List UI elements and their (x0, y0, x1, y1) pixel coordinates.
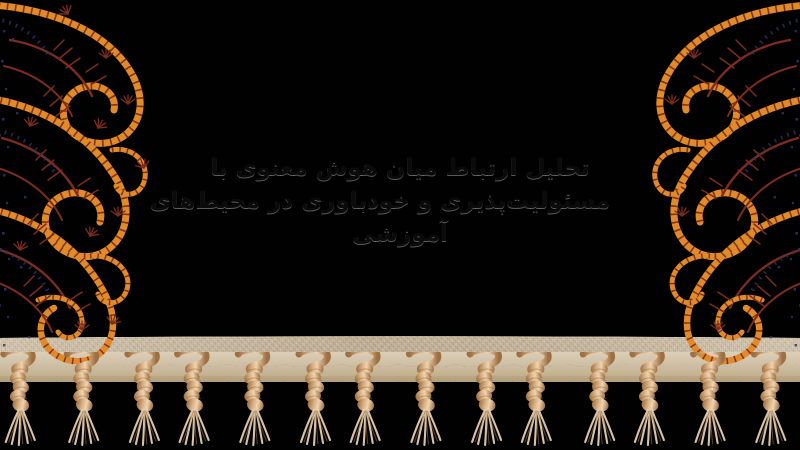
tassel (687, 352, 731, 448)
tassel-fringe (0, 352, 800, 450)
tassel (0, 352, 43, 448)
tassel (343, 352, 387, 448)
title-line-1: تحلیل ارتباط میان هوش معنوی با (190, 152, 610, 185)
tassel (748, 352, 792, 448)
tassel (232, 352, 276, 448)
tassel (404, 352, 448, 448)
tassel (465, 352, 509, 448)
tassel (626, 352, 670, 448)
tassel (515, 352, 559, 448)
tassel (171, 352, 215, 448)
tassel (60, 352, 104, 448)
title-line-2: مسئولیت‌پذیری و خودباوری در محیط‌های (190, 185, 610, 218)
title-line-3: آموزشی (190, 218, 610, 251)
slide-canvas: تحلیل ارتباط میان هوش معنوی با مسئولیت‌پ… (0, 0, 800, 450)
slide-title: تحلیل ارتباط میان هوش معنوی با مسئولیت‌پ… (0, 152, 800, 251)
tassel (293, 352, 337, 448)
tassel (576, 352, 620, 448)
tassel (121, 352, 165, 448)
